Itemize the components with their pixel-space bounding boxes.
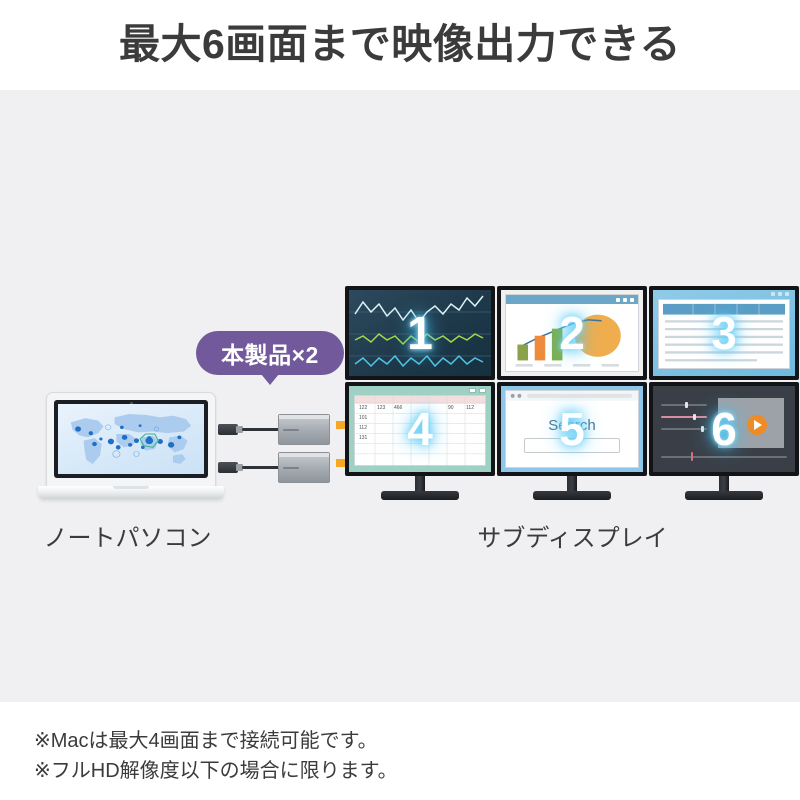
usb-plug-icon — [218, 424, 238, 435]
monitor-4: 122 123 466 90 112 101 112 131 4 — [345, 382, 495, 476]
monitor-6-number: 6 — [649, 382, 799, 476]
footnote-1: ※Macは最大4画面まで接続可能です。 — [34, 726, 554, 756]
stand-neck — [719, 476, 729, 492]
monitor-6: 6 — [649, 382, 799, 476]
stand-neck — [415, 476, 425, 492]
monitor-3: 3 — [649, 286, 799, 380]
laptop-lid — [46, 392, 216, 488]
monitor-stand-center — [533, 476, 611, 502]
adapter-top-edge — [279, 453, 329, 457]
monitor-1-number: 1 — [345, 286, 495, 380]
displays-caption: サブディスプレイ — [440, 518, 705, 553]
laptop-label: ノートパソコン — [44, 525, 212, 552]
laptop-illustration — [38, 392, 224, 502]
badge-tail — [261, 374, 279, 385]
stand-base — [533, 491, 611, 500]
laptop-base — [38, 486, 224, 499]
laptop-caption: ノートパソコン — [20, 518, 235, 553]
monitor-stand-right — [685, 476, 763, 502]
product-infographic: 最大6画面まで映像出力できる — [0, 0, 800, 800]
monitor-5: Search 5 — [497, 382, 647, 476]
adapter-body — [278, 452, 330, 483]
laptop-trackpad-notch — [113, 486, 149, 489]
monitor-2-number: 2 — [497, 286, 647, 380]
product-badge: 本製品×2 — [196, 331, 344, 387]
laptop-screen — [58, 404, 204, 474]
adapter-body — [278, 414, 330, 445]
cable — [242, 466, 280, 469]
badge-label: 本製品×2 — [221, 336, 319, 370]
adapter-port — [283, 467, 299, 469]
stand-neck — [567, 476, 577, 492]
stand-base — [381, 491, 459, 500]
monitor-stand-left — [381, 476, 459, 502]
cable — [242, 428, 280, 431]
monitor-5-number: 5 — [497, 382, 647, 476]
displays-label: サブディスプレイ — [477, 525, 667, 552]
monitor-4-number: 4 — [345, 382, 495, 476]
stand-base — [685, 491, 763, 500]
monitor-2: 2 — [497, 286, 647, 380]
page-title: 最大6画面まで映像出力できる — [0, 18, 800, 70]
adapter-port — [283, 429, 299, 431]
monitor-grid: 1 — [345, 286, 800, 506]
footnote-list: ※Macは最大4画面まで接続可能です。 ※フルHD解像度以下の場合に限ります。 — [34, 726, 554, 786]
laptop-bezel — [54, 400, 208, 478]
badge-bubble: 本製品×2 — [196, 331, 344, 375]
usb-plug-icon — [218, 462, 238, 473]
monitor-1: 1 — [345, 286, 495, 380]
footnote-2: ※フルHD解像度以下の場合に限ります。 — [34, 756, 554, 786]
monitor-3-number: 3 — [649, 286, 799, 380]
adapter-top-edge — [279, 415, 329, 419]
world-map-icon — [58, 404, 204, 474]
